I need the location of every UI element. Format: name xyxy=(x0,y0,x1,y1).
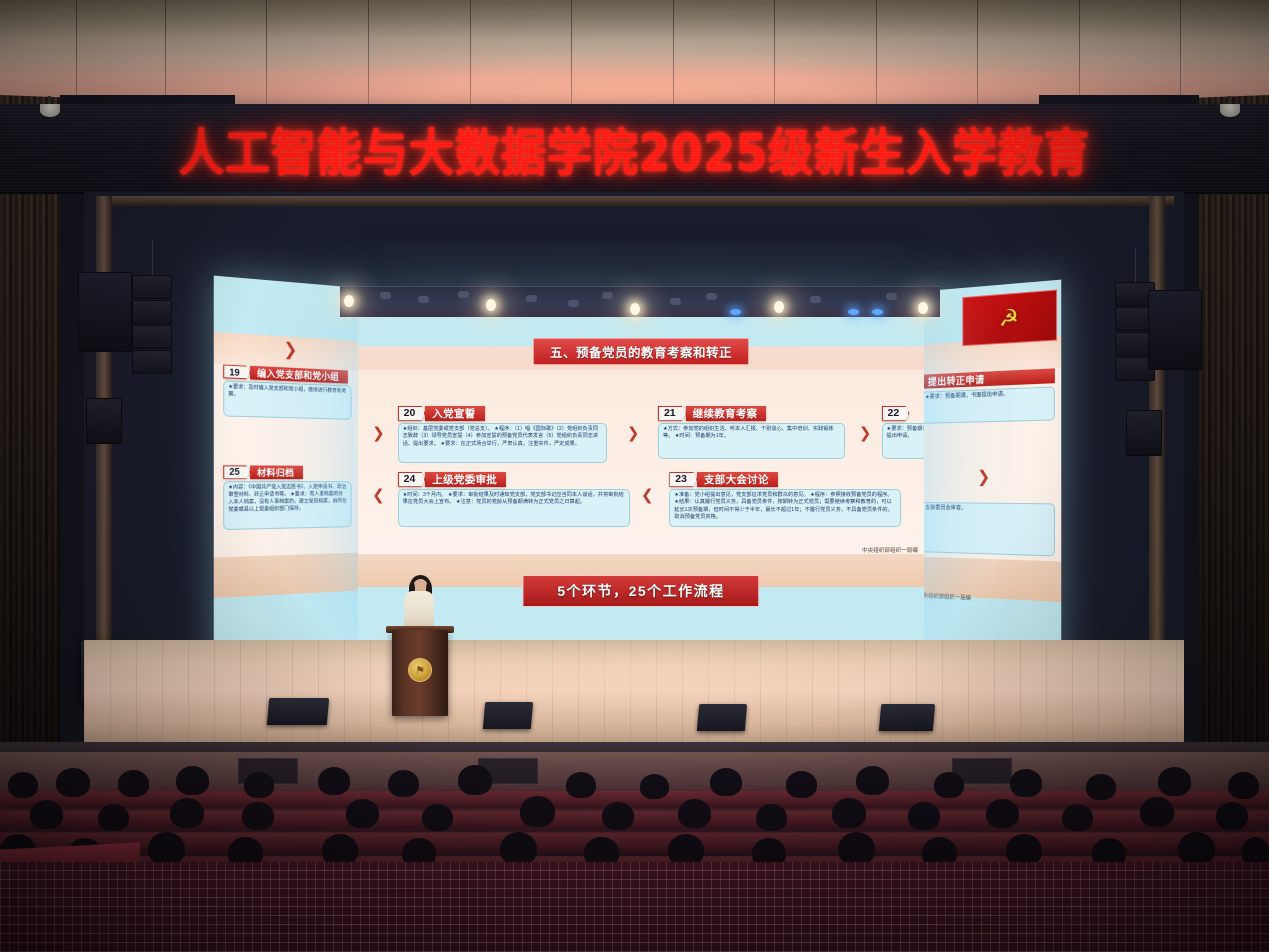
wall-speaker-left xyxy=(86,398,122,444)
audience-head xyxy=(908,802,940,830)
step-body-23: ★准备：党小组提出意见，党支部征求党员和群众的意见。 ★程序：参照接收预备党员的… xyxy=(669,489,901,527)
side-step-body-22: ★要求：预备期满，书面提出申请。 xyxy=(920,387,1055,424)
audience-head xyxy=(346,799,379,828)
stage-monitor xyxy=(267,698,329,725)
party-emblem-flag: ☭ xyxy=(963,290,1057,346)
side-step-label-19: 编入党支部和党小组 xyxy=(250,366,348,384)
step-label-24: 上级党委审批 xyxy=(425,472,506,487)
audience-head xyxy=(244,772,274,798)
audience-head xyxy=(566,772,596,798)
stage-light-warm xyxy=(774,301,784,313)
side-slide-right: ☭ 提出转正申请 ★要求：预备期满，书面提出申请。 ❯ 支部委员会审查。 中央组… xyxy=(915,280,1061,683)
side-projection-screen-left: ❯ 19 编入党支部和党小组 ★要求：及时编入党支部和党小组，继续进行教育和考察… xyxy=(214,276,360,679)
audience-head xyxy=(640,774,669,799)
audience-head xyxy=(1216,802,1248,830)
step-body-20: ★组织：基层党委或党支部（党总支）。 ★程序：（1）唱《国际歌》（2）党组织负责… xyxy=(398,423,607,463)
line-array-speaker-left xyxy=(132,275,172,375)
step-body-24: ★时间：3个月内。 ★要求：审批结果及时通知党支部，党支部书记应当同本人谈话，并… xyxy=(398,489,630,527)
audience-head xyxy=(500,832,537,865)
side-step-body-23-partial: 支部委员会审查。 xyxy=(920,502,1055,556)
audience-head xyxy=(1158,767,1191,796)
step-number-21: 21 xyxy=(658,406,686,421)
step-label-21: 继续教育考察 xyxy=(686,406,767,421)
step-number-22: 22 xyxy=(882,406,910,421)
step-number-24: 24 xyxy=(398,472,426,487)
side-step-label-25: 材料归档 xyxy=(250,465,303,479)
audience-head xyxy=(786,771,817,798)
led-banner-text: 人工智能与大数据学院2025级新生入学教育 xyxy=(179,112,1090,185)
audience-head xyxy=(678,799,711,828)
audience-head xyxy=(242,802,274,830)
step-label-20: 入党宣誓 xyxy=(425,406,484,421)
step-body-22: ★要求：预备期满，书面提出申请。 xyxy=(882,423,924,459)
stage-monitor xyxy=(483,702,533,729)
audience-head xyxy=(176,766,209,795)
lighting-truss xyxy=(340,286,940,317)
audience-head xyxy=(1178,832,1215,865)
audience-head xyxy=(422,804,453,831)
side-step-body-25: ★内容：《中国共产党入党志愿书》、入党申请书、政治审查材料、转正申请书等。 ★要… xyxy=(223,481,352,530)
audience-head xyxy=(1086,774,1116,800)
stage-light-blue xyxy=(730,309,741,315)
audience-head xyxy=(832,798,866,828)
step-number-23: 23 xyxy=(669,472,697,487)
slide-title: 五、预备党员的教育考察和转正 xyxy=(533,338,749,365)
audience-head xyxy=(56,768,90,797)
audience-head xyxy=(856,766,889,795)
stage-light-warm xyxy=(630,303,640,315)
stage-light-blue xyxy=(848,309,859,315)
ceiling-glow xyxy=(102,58,1168,110)
proscenium-top-beam xyxy=(96,196,1174,206)
audience-head xyxy=(986,799,1019,828)
stage-monitor xyxy=(879,704,935,731)
side-step-number-19: 19 xyxy=(223,365,250,380)
slide-footer-banner: 5个环节，25个工作流程 xyxy=(522,575,759,607)
stage-light-warm xyxy=(918,302,928,314)
side-step-body-19: ★要求：及时编入党支部和党小组，继续进行教育和考察。 xyxy=(223,381,352,420)
audience-head xyxy=(934,772,964,798)
subwoofer-right xyxy=(1148,290,1202,370)
audience-head xyxy=(118,770,149,797)
step-label-23: 支部大会讨论 xyxy=(697,472,778,487)
stage-monitor xyxy=(697,704,747,731)
side-slide-left: ❯ 19 编入党支部和党小组 ★要求：及时编入党支部和党小组，继续进行教育和考察… xyxy=(214,276,360,679)
audience-head xyxy=(458,765,492,795)
seat-row xyxy=(0,832,1269,852)
audience-head xyxy=(1228,772,1259,799)
led-banner: 人工智能与大数据学院2025级新生入学教育 xyxy=(0,104,1269,194)
audience-head xyxy=(520,796,555,827)
ceiling-camera-right xyxy=(1220,104,1240,117)
side-step-number-25: 25 xyxy=(223,465,250,479)
school-emblem-icon: ⚑ xyxy=(408,658,432,682)
audience-head xyxy=(756,804,787,831)
audience-head xyxy=(170,798,204,828)
podium: ⚑ xyxy=(392,630,448,716)
stage-light-warm xyxy=(486,299,496,311)
subwoofer-left xyxy=(78,272,132,352)
proscenium-frame-right xyxy=(1149,196,1165,716)
wall-speaker-right xyxy=(1126,410,1162,456)
side-slide-credit: 中央组织部组织一局编 xyxy=(918,591,971,602)
hammer-sickle-icon: ☭ xyxy=(999,306,1019,330)
side-projection-screen-right: ☭ 提出转正申请 ★要求：预备期满，书面提出申请。 ❯ 支部委员会审查。 中央组… xyxy=(915,280,1061,683)
audience-head xyxy=(838,832,875,865)
main-slide: 五、预备党员的教育考察和转正 ❯ 20 入党宣誓 ★组织：基层党委或党支部（党总… xyxy=(358,310,924,640)
audience-head xyxy=(388,770,419,797)
main-projection-screen: 五、预备党员的教育考察和转正 ❯ 20 入党宣誓 ★组织：基层党委或党支部（党总… xyxy=(358,310,924,640)
audience-head xyxy=(1140,797,1174,827)
audience-head xyxy=(602,802,634,830)
step-body-21: ★方式：参加党的组织生活、听本人汇报、个别谈心、集中培训、实践锻炼等。 ★时间：… xyxy=(658,423,845,459)
wall-wood-right xyxy=(1187,95,1269,798)
stage-light-blue xyxy=(872,309,883,315)
ceiling-camera-left xyxy=(40,104,60,117)
audience-head xyxy=(710,768,742,796)
audience-head xyxy=(98,804,129,831)
slide-credit: 中央组织部组织一局编 xyxy=(862,546,918,554)
wall-wood-left xyxy=(0,95,68,798)
audience-head xyxy=(30,800,63,829)
audience-head xyxy=(1010,769,1042,797)
audience-head xyxy=(8,772,38,798)
audience-head xyxy=(318,767,350,795)
side-step-label-22: 提出转正申请 xyxy=(920,369,1055,389)
foreground-seat-band xyxy=(0,862,1269,952)
audience-head xyxy=(1062,804,1093,831)
step-number-20: 20 xyxy=(398,406,426,421)
auditorium-photo: 人工智能与大数据学院2025级新生入学教育 ❯ 19 编入党支部和党小组 ★要求… xyxy=(0,0,1269,952)
stage-light-warm xyxy=(344,295,354,307)
audience-head xyxy=(148,832,185,865)
